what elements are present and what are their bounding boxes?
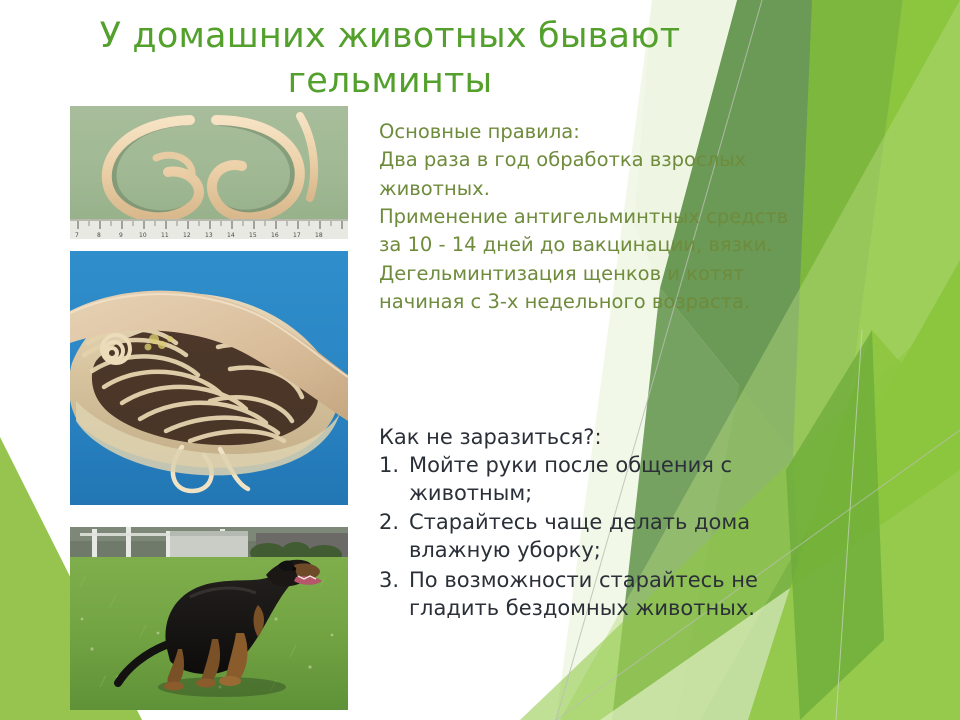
svg-text:7: 7 [75, 232, 79, 239]
list-item: 1. Мойте руки после общения с животным; [379, 451, 839, 507]
list-item-text: Мойте руки после общения с животным; [409, 451, 839, 507]
svg-text:18: 18 [315, 232, 323, 239]
prevention-heading: Как не заразиться?: [379, 423, 829, 451]
dog-on-grass-photo-art [70, 527, 348, 710]
svg-text:8: 8 [97, 232, 101, 239]
svg-text:10: 10 [139, 232, 147, 239]
prevention-list: 1. Мойте руки после общения с животным; … [379, 451, 839, 623]
list-item: 3. По возможности старайтесь не гладить … [379, 566, 839, 622]
svg-text:12: 12 [183, 232, 191, 239]
svg-text:16: 16 [271, 232, 279, 239]
infected-intestine-photo [70, 251, 348, 505]
list-item-text: По возможности старайтесь не гладить без… [409, 566, 839, 622]
dog-on-grass-photo [70, 527, 348, 710]
list-item-text: Старайтесь чаще делать дома влажную убор… [409, 508, 839, 564]
svg-text:9: 9 [119, 232, 123, 239]
svg-text:13: 13 [205, 232, 213, 239]
infected-intestine-photo-art [70, 251, 348, 505]
list-item-number: 3. [379, 566, 409, 594]
list-item-number: 2. [379, 508, 409, 536]
svg-text:17: 17 [293, 232, 301, 239]
list-item-number: 1. [379, 451, 409, 479]
slide-canvas: У домашних животных бывают гельминты [0, 0, 960, 720]
list-item: 2. Старайтесь чаще делать дома влажную у… [379, 508, 839, 564]
svg-text:11: 11 [161, 232, 169, 239]
slide-title: У домашних животных бывают гельминты [60, 14, 720, 104]
rules-text-block: Основные правила: Два раза в год обработ… [379, 118, 849, 317]
roundworms-photo: 789 101112 131415 161718 [70, 106, 348, 239]
roundworms-photo-art: 789 101112 131415 161718 [70, 106, 348, 239]
svg-text:15: 15 [249, 232, 257, 239]
svg-text:14: 14 [227, 232, 235, 239]
